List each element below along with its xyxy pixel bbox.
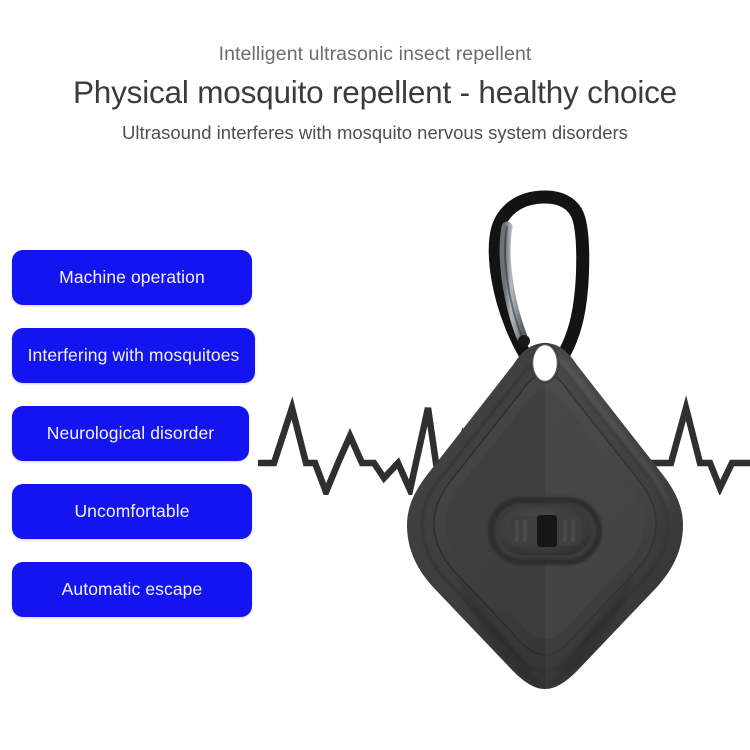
page-title: Physical mosquito repellent - healthy ch…	[0, 72, 750, 112]
feature-pill-label: Interfering with mosquitoes	[28, 345, 240, 366]
feature-pill-machine-operation[interactable]: Machine operation	[12, 250, 252, 305]
feature-pill-interfering-with-mosquitoes[interactable]: Interfering with mosquitoes	[12, 328, 255, 383]
product-infographic-page: Intelligent ultrasonic insect repellent …	[0, 0, 750, 750]
feature-pill-label: Machine operation	[59, 267, 205, 288]
header-eyebrow: Intelligent ultrasonic insect repellent	[0, 42, 750, 66]
feature-pill-label: Automatic escape	[62, 579, 203, 600]
feature-pill-label: Neurological disorder	[47, 423, 214, 444]
feature-pill-neurological-disorder[interactable]: Neurological disorder	[12, 406, 249, 461]
feature-pill-automatic-escape[interactable]: Automatic escape	[12, 562, 252, 617]
feature-pill-label: Uncomfortable	[74, 501, 189, 522]
feature-pill-uncomfortable[interactable]: Uncomfortable	[12, 484, 252, 539]
lanyard-hole	[532, 344, 558, 382]
header-subtitle: Ultrasound interferes with mosquito nerv…	[0, 121, 750, 145]
ultrasonic-mosquito-repeller	[395, 175, 695, 695]
power-slide-switch[interactable]	[491, 500, 599, 562]
switch-knob	[537, 515, 557, 547]
header-block: Intelligent ultrasonic insect repellent …	[0, 42, 750, 145]
